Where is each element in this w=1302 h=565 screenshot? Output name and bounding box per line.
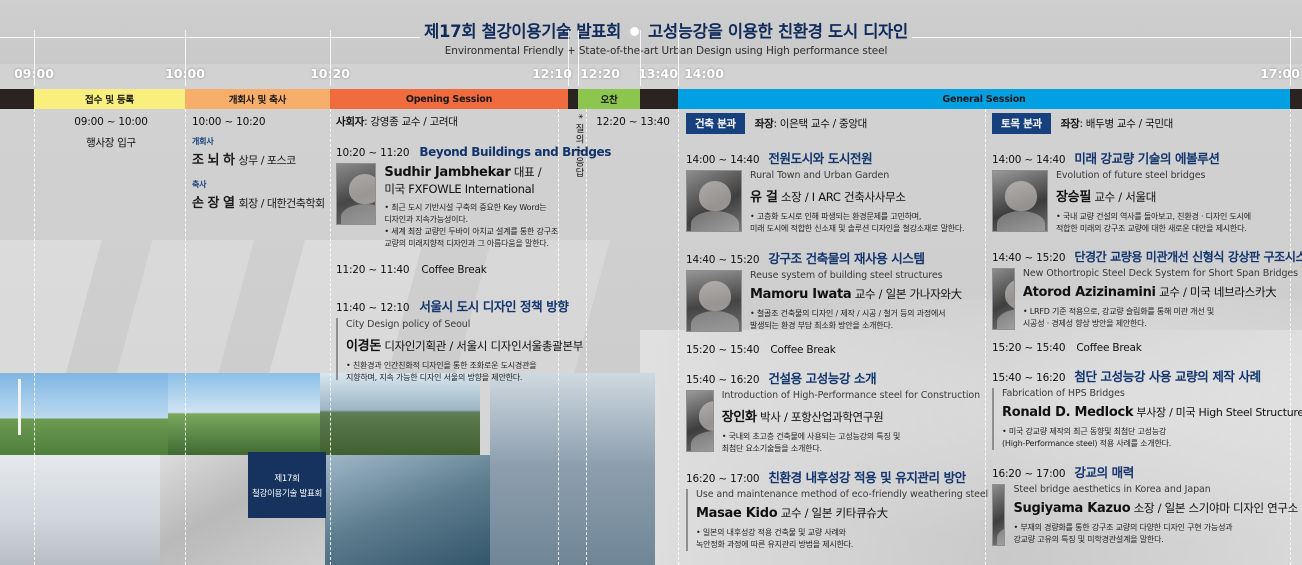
ceremony-speaker-1-title: 상무 / 포스코 bbox=[238, 154, 295, 167]
speaker-name: Atorod Azizinamini bbox=[1023, 285, 1156, 300]
collage-photo-windfarm bbox=[160, 373, 320, 455]
break-time: 15:20 ~ 15:40 bbox=[992, 342, 1065, 354]
timeline-ticks bbox=[0, 30, 1302, 86]
architecture-division-chip: 건축 분과 bbox=[686, 113, 745, 134]
session-item-title-ko: 건설용 고성능강 소개 bbox=[768, 368, 876, 387]
session-item-speaker: Atorod Azizinamini 교수 / 미국 네브라스카大 bbox=[1023, 284, 1298, 300]
speaker-photo bbox=[686, 489, 688, 551]
collage-photo-tower bbox=[490, 373, 655, 565]
moderator-label: 사회자 bbox=[336, 116, 364, 128]
qna-vertical-label: * 질의 / 응답 bbox=[563, 114, 585, 178]
session-item-title-ko: 미래 강교량 기술의 에볼루션 bbox=[1074, 148, 1219, 167]
collage-photo-building-model bbox=[0, 455, 160, 565]
session-item-title-en: Fabrication of HPS Bridges bbox=[1002, 388, 1302, 399]
session-bullet: 디자인과 지속가능성이다. bbox=[384, 214, 558, 226]
ceremony-speaker-1: 조 뇌 하 상무 / 포스코 bbox=[192, 149, 326, 168]
break-label: Coffee Break bbox=[770, 344, 835, 356]
session-bullet: • 국내외 초고층 건축물에 사용되는 고성능강의 특징 및 bbox=[722, 431, 980, 443]
session-bullet: • 고층화 도시로 인해 파생되는 환경문제를 고민하며, bbox=[750, 211, 964, 223]
speaker-photo bbox=[686, 390, 714, 452]
session-bullet: 녹안정화 과정에 따른 유지관리 방법을 제시한다. bbox=[696, 539, 988, 551]
session-item-title-en: Reuse system of building steel structure… bbox=[750, 270, 962, 281]
session-item-title-en: Evolution of future steel bridges bbox=[1056, 170, 1251, 181]
session-item-title-ko: 첨단 고성능강 사용 교량의 제작 사례 bbox=[1074, 366, 1260, 385]
session-bullet: • 세계 최장 교량인 두바이 아치교 설계를 통한 강구조 bbox=[384, 226, 558, 238]
architecture-chair: 좌장: 이은택 교수 / 중앙대 bbox=[755, 116, 867, 131]
speaker-title: 교수 / 일본 키타큐슈大 bbox=[781, 506, 888, 520]
speaker-photo bbox=[992, 388, 994, 450]
session-item-speaker: Sugiyama Kazuo 소장 / 일본 스기야마 디자인 연구소 bbox=[1013, 500, 1298, 516]
session-item-speaker: 장인화 박사 / 포항산업과학연구원 bbox=[722, 406, 980, 425]
session-bullet: 지향하며, 지속 가능한 디자인 서울의 방향을 제안한다. bbox=[346, 372, 583, 384]
session-item[interactable]: 14:00 ~ 14:40 전원도시와 도시전원 Rural Town and … bbox=[686, 148, 980, 235]
chair-name: : 배두병 교수 / 국민대 bbox=[1080, 118, 1174, 130]
session-break: 15:20 ~ 15:40 Coffee Break bbox=[992, 342, 1298, 354]
column-separator bbox=[34, 109, 35, 565]
session-item[interactable]: 14:40 ~ 15:20 단경간 교량용 미관개선 신형식 강상판 구조시스템… bbox=[992, 248, 1298, 330]
speaker-name: Mamoru Iwata bbox=[750, 287, 851, 302]
session-break: 11:20 ~ 11:40 Coffee Break bbox=[336, 264, 558, 276]
speaker-name: Masae Kido bbox=[696, 506, 777, 521]
column-separator bbox=[330, 109, 331, 565]
speaker-title: 박사 / 포항산업과학연구원 bbox=[760, 410, 883, 424]
session-bullet: • 친환경과 인간친화적 디자인을 통한 조화로운 도시경관을 bbox=[346, 360, 583, 372]
break-time: 11:20 ~ 11:40 bbox=[336, 264, 409, 276]
session-bullet: • LRFD 기준 적용으로, 강교량 슬림화를 통해 미관 개선 및 bbox=[1023, 306, 1298, 318]
session-item[interactable]: 15:40 ~ 16:20 건설용 고성능강 소개 Introduction o… bbox=[686, 368, 980, 455]
session-bullet: 최첨단 요소기술들을 소개한다. bbox=[722, 443, 980, 455]
session-item-speaker: Ronald D. Medlock 부사장 / 미국 High Steel St… bbox=[1002, 404, 1302, 420]
column-separator bbox=[586, 109, 587, 565]
session-item-time: 11:40 ~ 12:10 bbox=[336, 302, 409, 314]
session-bullet: 적합한 미래의 강구조 교량에 대한 새로운 대안을 제시한다. bbox=[1056, 223, 1251, 235]
speaker-org: 미국 FXFOWLE International bbox=[384, 181, 558, 197]
civil-division: 토목 분과 좌장: 배두병 교수 / 국민대 14:00 ~ 14:40 미래 … bbox=[992, 113, 1298, 546]
session-item-title-en: City Design policy of Seoul bbox=[346, 319, 583, 330]
session-item-title-ko: 친환경 내후성강 적용 및 유지관리 방안 bbox=[768, 467, 965, 486]
session-item-title-en: Introduction of High-Performance steel f… bbox=[722, 390, 980, 401]
session-bullet: 교량의 미래지향적 디자인과 그 아름다움을 말한다. bbox=[384, 238, 558, 250]
architecture-division: 건축 분과 좌장: 이은택 교수 / 중앙대 14:00 ~ 14:40 전원도… bbox=[686, 113, 980, 551]
speaker-title: 소장 / I ARC 건축사사무소 bbox=[781, 190, 906, 204]
session-item-title-ko: 강교의 매력 bbox=[1074, 462, 1133, 481]
timeline-bar: 접수 및 등록 개회사 및 축사 Opening Session 오찬 Gene… bbox=[0, 89, 1302, 109]
opening-session-moderator: 사회자: 강영종 교수 / 고려대 bbox=[336, 114, 558, 129]
speaker-name: 이경돈 bbox=[346, 339, 381, 354]
collage-photo-village bbox=[320, 373, 480, 455]
session-item-title-en: Rural Town and Urban Garden bbox=[750, 170, 964, 181]
session-item[interactable]: 10:20 ~ 11:20 Beyond Buildings and Bridg… bbox=[336, 145, 558, 250]
session-item-speaker: Mamoru Iwata 교수 / 일본 가나자와大 bbox=[750, 286, 962, 302]
photo-collage bbox=[0, 373, 655, 565]
session-item-title-en: New Othortropic Steel Deck System for Sh… bbox=[1023, 268, 1298, 279]
session-item-time: 14:40 ~ 15:20 bbox=[686, 254, 759, 266]
session-item-title-ko: 강구조 건축물의 재사용 시스템 bbox=[768, 248, 924, 267]
session-bullet: • 국내 교량 건설의 역사를 돌아보고, 친환경 · 디자인 도시에 bbox=[1056, 211, 1251, 223]
session-item-speaker: 유 걸 소장 / I ARC 건축사사무소 bbox=[750, 186, 964, 205]
column-separator bbox=[185, 109, 186, 565]
speaker-name: 장승필 bbox=[1056, 190, 1091, 205]
session-item-time: 16:20 ~ 17:00 bbox=[992, 468, 1065, 480]
session-bullet: 시공성 · 경제성 향상 방안을 제안한다. bbox=[1023, 318, 1298, 330]
session-bullet: (High-Performance steel) 적용 사례를 소개한다. bbox=[1002, 438, 1302, 450]
speaker-title: 교수 / 서울대 bbox=[1094, 190, 1156, 204]
timeline-segment-ceremony[interactable]: 개회사 및 축사 bbox=[185, 89, 330, 109]
speaker-title: 디자인기획관 / 서울시 디자인서울총괄본부 bbox=[384, 339, 583, 353]
session-item-title-ko: 전원도시와 도시전원 bbox=[768, 148, 872, 167]
ceremony-speaker-2-name: 손 장 열 bbox=[192, 196, 234, 211]
session-item-time: 14:00 ~ 14:40 bbox=[686, 154, 759, 166]
session-item-time: 10:20 ~ 11:20 bbox=[336, 147, 409, 159]
break-label: Coffee Break bbox=[421, 264, 486, 276]
ceremony-speaker-1-name: 조 뇌 하 bbox=[192, 153, 234, 168]
speaker-title: 교수 / 미국 네브라스카大 bbox=[1159, 285, 1276, 299]
session-item[interactable]: 11:40 ~ 12:10 서울시 도시 디자인 정책 방향 City Desi… bbox=[336, 296, 558, 384]
ceremony-role-1: 개회사 bbox=[192, 136, 326, 147]
speaker-photo bbox=[336, 163, 376, 225]
event-banner: 제17회 철강이용기술 발표회 bbox=[248, 452, 326, 518]
break-label: Coffee Break bbox=[1076, 342, 1141, 354]
speaker-photo bbox=[992, 484, 1005, 546]
timeline-segment-opening[interactable]: Opening Session bbox=[330, 89, 568, 109]
speaker-title: 교수 / 일본 가나자와大 bbox=[855, 287, 962, 301]
ceremony-time: 10:00 ~ 10:20 bbox=[192, 116, 326, 128]
timeline-segment-lunch[interactable]: 오찬 bbox=[578, 89, 640, 109]
session-item-title-ko: 단경간 교량용 미관개선 신형식 강상판 구조시스템 bbox=[1074, 248, 1302, 265]
speaker-photo bbox=[686, 170, 742, 232]
speaker-photo bbox=[992, 170, 1048, 232]
speaker-title: 대표 / bbox=[514, 165, 542, 179]
session-item-time: 15:40 ~ 16:20 bbox=[686, 374, 759, 386]
session-item-title-ko: 서울시 도시 디자인 정책 방향 bbox=[419, 296, 568, 315]
chair-name: : 이은택 교수 / 중앙대 bbox=[774, 118, 868, 130]
collage-photo-turbine bbox=[0, 373, 168, 455]
registration-place: 행사장 입구 bbox=[40, 135, 182, 150]
session-item-time: 14:40 ~ 15:20 bbox=[992, 252, 1065, 264]
civil-division-chip: 토목 분과 bbox=[992, 113, 1051, 134]
session-item-time: 16:20 ~ 17:00 bbox=[686, 473, 759, 485]
session-item[interactable]: 15:40 ~ 16:20 첨단 고성능강 사용 교량의 제작 사례 Fabri… bbox=[992, 366, 1298, 450]
lunch-block: 12:20 ~ 13:40 bbox=[590, 116, 676, 128]
banner-line-1: 제17회 bbox=[274, 472, 299, 484]
session-bullet: • 철골조 건축물의 디자인 / 제작 / 시공 / 철거 등의 과정에서 bbox=[750, 308, 962, 320]
speaker-photo bbox=[686, 270, 742, 332]
session-item[interactable]: 14:40 ~ 15:20 강구조 건축물의 재사용 시스템 Reuse sys… bbox=[686, 248, 980, 332]
session-item[interactable]: 16:20 ~ 17:00 친환경 내후성강 적용 및 유지관리 방안 Use … bbox=[686, 467, 980, 551]
session-item[interactable]: 14:00 ~ 14:40 미래 강교량 기술의 에볼루션 Evolution … bbox=[992, 148, 1298, 235]
session-item-speaker: Masae Kido 교수 / 일본 키타큐슈大 bbox=[696, 505, 988, 521]
banner-line-2: 철강이용기술 발표회 bbox=[252, 487, 322, 499]
collage-photo-bridge bbox=[325, 455, 490, 565]
chair-label: 좌장 bbox=[755, 118, 774, 130]
registration-block: 09:00 ~ 10:00 행사장 입구 bbox=[40, 116, 182, 150]
session-bullet: • 부재의 경량화를 통한 강구조 교량의 다양한 디자인 구현 가능성과 bbox=[1013, 522, 1298, 534]
ceremony-speaker-2-title: 회장 / 대한건축학회 bbox=[238, 197, 324, 210]
lunch-time: 12:20 ~ 13:40 bbox=[590, 116, 676, 128]
session-break: 15:20 ~ 15:40 Coffee Break bbox=[686, 344, 980, 356]
session-item-title-en: Use and maintenance method of eco-friend… bbox=[696, 489, 988, 500]
ceremony-role-2: 축사 bbox=[192, 179, 326, 190]
speaker-name: Sudhir Jambhekar bbox=[384, 165, 510, 180]
opening-session-block: 사회자: 강영종 교수 / 고려대 10:20 ~ 11:20 Beyond B… bbox=[336, 114, 558, 384]
session-item-time: 15:40 ~ 16:20 bbox=[992, 372, 1065, 384]
moderator-name: : 강영종 교수 / 고려대 bbox=[364, 116, 458, 128]
session-item-speaker: Sudhir Jambhekar 대표 / bbox=[384, 164, 558, 180]
break-time: 15:20 ~ 15:40 bbox=[686, 344, 759, 356]
session-bullet: 발생되는 환경 부담 최소화 방안을 소개한다. bbox=[750, 320, 962, 332]
session-item-time: 14:00 ~ 14:40 bbox=[992, 154, 1065, 166]
opening-ceremony-block: 10:00 ~ 10:20 개회사 조 뇌 하 상무 / 포스코 축사 손 장 … bbox=[192, 116, 326, 211]
session-bullet: 미래 도시에 적합한 신소재 및 솔루션 디자인을 철강소재로 말한다. bbox=[750, 223, 964, 235]
session-item-speaker: 이경돈 디자인기획관 / 서울시 디자인서울총괄본부 bbox=[346, 335, 583, 354]
timeline-segment-registration[interactable]: 접수 및 등록 bbox=[34, 89, 185, 109]
session-bullet: 강교량 고유의 특징 및 미학경관설계을 말한다. bbox=[1013, 534, 1298, 546]
registration-time: 09:00 ~ 10:00 bbox=[40, 116, 182, 128]
speaker-photo bbox=[336, 318, 338, 380]
session-bullet: • 일본의 내후성강 적용 건축물 및 교량 사례와 bbox=[696, 527, 988, 539]
chair-label: 좌장 bbox=[1061, 118, 1080, 130]
speaker-name: Ronald D. Medlock bbox=[1002, 405, 1133, 420]
speaker-name: Sugiyama Kazuo bbox=[1013, 501, 1130, 516]
civil-chair: 좌장: 배두병 교수 / 국민대 bbox=[1061, 116, 1173, 131]
session-item[interactable]: 16:20 ~ 17:00 강교의 매력 Steel bridge aesthe… bbox=[992, 462, 1298, 546]
session-bullet: • 미국 강교량 제작의 최근 동향및 최첨단 고성능강 bbox=[1002, 426, 1302, 438]
column-separator bbox=[678, 109, 679, 565]
ceremony-speaker-2: 손 장 열 회장 / 대한건축학회 bbox=[192, 192, 326, 211]
session-bullet: • 최근 도시 기반시설 구축의 중요한 Key Word는 bbox=[384, 202, 558, 214]
timeline-segment-general[interactable]: General Session bbox=[678, 89, 1290, 109]
session-item-speaker: 장승필 교수 / 서울대 bbox=[1056, 186, 1251, 205]
speaker-title: 부사장 / 미국 High Steel Structures, Inc. bbox=[1136, 406, 1302, 419]
speaker-photo bbox=[992, 268, 1015, 330]
speaker-name: 유 걸 bbox=[750, 190, 778, 205]
speaker-title: 소장 / 일본 스기야마 디자인 연구소 bbox=[1134, 501, 1298, 515]
speaker-name: 장인화 bbox=[722, 410, 757, 425]
session-item-title-en: Steel bridge aesthetics in Korea and Jap… bbox=[1013, 484, 1298, 495]
